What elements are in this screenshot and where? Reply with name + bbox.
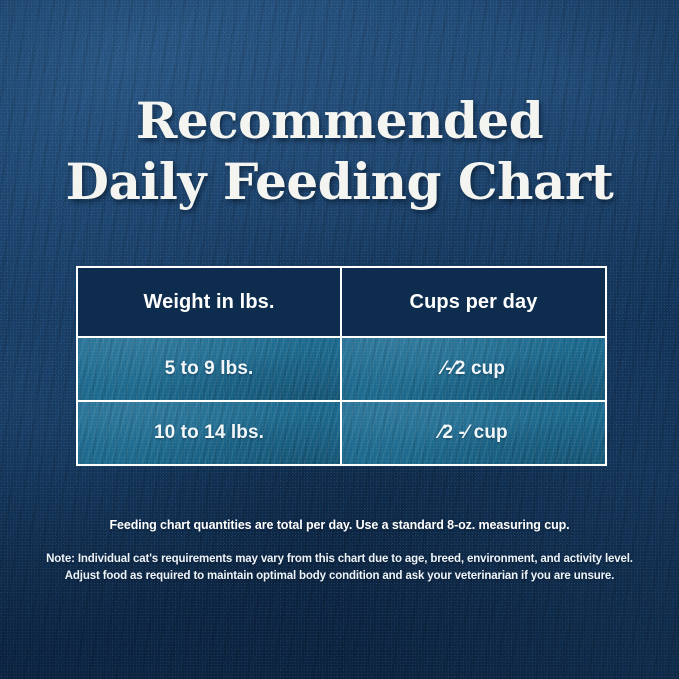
page-title: Recommended Daily Feeding Chart	[0, 96, 679, 207]
footnote-measuring-cup: Feeding chart quantities are total per d…	[0, 518, 679, 532]
table-row: 5 to 9 lbs. ⁄-⁄2 cup	[78, 336, 605, 400]
table-cell-cups-value: ⁄-⁄2 cup	[442, 358, 505, 380]
page-title-line-1: Recommended	[0, 96, 679, 146]
table-header-row: Weight in lbs. Cups per day	[78, 268, 605, 336]
table-cell-weight-value: 10 to 14 lbs.	[154, 422, 264, 444]
table-header-label-cups: Cups per day	[410, 291, 538, 314]
table-header-cell-weight: Weight in lbs.	[78, 268, 340, 336]
table-cell-weight: 10 to 14 lbs.	[78, 402, 340, 464]
disclaimer-note: Note: Individual cat's requirements may …	[0, 551, 679, 584]
table-cell-weight-value: 5 to 9 lbs.	[165, 358, 254, 380]
feeding-table: Weight in lbs. Cups per day 5 to 9 lbs. …	[76, 266, 607, 466]
table-cell-weight: 5 to 9 lbs.	[78, 338, 340, 400]
table-cell-cups: ⁄2 -⁄ cup	[340, 402, 605, 464]
table-header-cell-cups: Cups per day	[340, 268, 605, 336]
page-title-line-2: Daily Feeding Chart	[0, 157, 679, 207]
disclaimer-note-line-2: Adjust food as required to maintain opti…	[0, 568, 679, 585]
feeding-chart-poster: Recommended Daily Feeding Chart Weight i…	[0, 0, 679, 679]
disclaimer-note-line-1: Note: Individual cat's requirements may …	[0, 551, 679, 568]
table-cell-cups-value: ⁄2 -⁄ cup	[439, 422, 507, 444]
table-header-label-weight: Weight in lbs.	[143, 291, 274, 314]
table-row: 10 to 14 lbs. ⁄2 -⁄ cup	[78, 400, 605, 464]
table-cell-cups: ⁄-⁄2 cup	[340, 338, 605, 400]
